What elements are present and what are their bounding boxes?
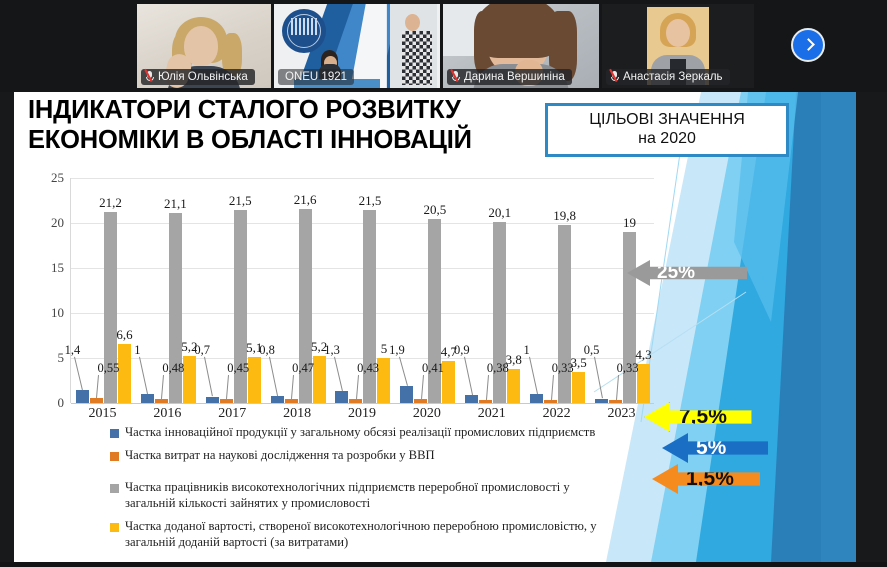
legend-color-swatch bbox=[110, 484, 119, 493]
x-axis-tick: 2018 bbox=[283, 406, 311, 422]
chart-value-label: 0,7 bbox=[194, 343, 210, 358]
chart-value-label: 20,1 bbox=[488, 205, 511, 221]
chart-bar bbox=[595, 399, 608, 404]
legend-label: Частка витрат на наукові дослідження та … bbox=[125, 448, 610, 464]
target-values-box: ЦІЛЬОВІ ЗНАЧЕННЯ на 2020 bbox=[545, 103, 789, 157]
chart-bar bbox=[349, 399, 362, 403]
chart-bar bbox=[206, 397, 219, 403]
x-axis-tick: 2020 bbox=[413, 406, 441, 422]
y-axis-tick: 15 bbox=[51, 260, 64, 276]
chart-value-label: 1,4 bbox=[65, 343, 81, 358]
slide-title: ІНДИКАТОРИ СТАЛОГО РОЗВИТКУ ЕКОНОМІКИ В … bbox=[28, 96, 548, 155]
x-axis-tick: 2016 bbox=[153, 406, 181, 422]
legend-label: Частка працівників високотехнологічних п… bbox=[125, 480, 610, 511]
legend-color-swatch bbox=[110, 523, 119, 532]
chart-gridline: 0 bbox=[71, 403, 654, 404]
chart-value-label: 0,48 bbox=[162, 361, 184, 376]
target-values-line2: на 2020 bbox=[638, 130, 696, 149]
chart-bar bbox=[558, 225, 571, 403]
chart-value-label: 0,9 bbox=[454, 343, 470, 358]
chart-bar bbox=[414, 399, 427, 403]
y-axis-tick: 20 bbox=[51, 215, 64, 231]
x-axis-tick: 2017 bbox=[218, 406, 246, 422]
chart-bar bbox=[609, 400, 622, 403]
chart-bar bbox=[155, 399, 168, 403]
participant-name-tag: Юлія Ольвінська bbox=[141, 69, 255, 85]
participant-name-tag: ONEU 1921 bbox=[278, 69, 354, 85]
chart-bar bbox=[479, 400, 492, 403]
chart-bar bbox=[623, 232, 636, 403]
window-bottom-edge bbox=[0, 562, 887, 567]
chart-bar bbox=[248, 357, 261, 403]
chart-value-label: 20,5 bbox=[424, 202, 447, 218]
chart-bar bbox=[637, 364, 650, 403]
chart-value-label: 21,5 bbox=[229, 193, 252, 209]
next-page-button[interactable] bbox=[791, 28, 825, 62]
participant-name: Дарина Вершиніна bbox=[464, 71, 565, 83]
microphone-muted-icon bbox=[610, 71, 619, 83]
chart-bar bbox=[183, 356, 196, 403]
shared-screen-slide[interactable]: ІНДИКАТОРИ СТАЛОГО РОЗВИТКУ ЕКОНОМІКИ В … bbox=[14, 92, 856, 562]
chart-bar bbox=[335, 391, 348, 403]
chart-value-label: 1,9 bbox=[389, 343, 405, 358]
chart-value-label: 0,38 bbox=[487, 361, 509, 376]
y-axis-tick: 5 bbox=[58, 350, 65, 366]
participant-name-tag: Дарина Вершиніна bbox=[447, 69, 572, 85]
chart-value-label: 0,47 bbox=[292, 361, 314, 376]
participant-tile-4[interactable]: Анастасія Зеркаль bbox=[602, 4, 754, 88]
legend-item[interactable]: Частка інноваційної продукції у загально… bbox=[110, 425, 610, 441]
chart-bar bbox=[90, 398, 103, 403]
chart-bar bbox=[76, 390, 89, 403]
legend-item[interactable]: Частка доданої вартості, створеної висок… bbox=[110, 519, 610, 550]
chart-bar bbox=[544, 400, 557, 403]
legend-color-swatch bbox=[110, 452, 119, 461]
chart-value-label: 1,3 bbox=[324, 343, 340, 358]
chart-bar bbox=[400, 386, 413, 403]
chart-value-label: 21,5 bbox=[359, 193, 382, 209]
zoom-meeting-window: Юлія ОльвінськаONEU 1921Дарина Вершиніна… bbox=[0, 0, 887, 567]
participant-tile-3[interactable]: Дарина Вершиніна bbox=[443, 4, 599, 88]
participant-name-tag: Анастасія Зеркаль bbox=[606, 69, 730, 85]
participant-tile-2[interactable]: ONEU 1921 bbox=[274, 4, 440, 88]
chart-bar bbox=[465, 395, 478, 403]
legend-item[interactable]: Частка працівників високотехнологічних п… bbox=[110, 480, 610, 511]
chart-value-label: 0,33 bbox=[552, 361, 574, 376]
chart-legend: Частка інноваційної продукції у загально… bbox=[110, 425, 610, 557]
chart-value-label: 1 bbox=[524, 343, 530, 358]
chart-value-label: 21,6 bbox=[294, 192, 317, 208]
chart-bar bbox=[285, 399, 298, 403]
chart-value-label: 5 bbox=[381, 341, 388, 357]
microphone-muted-icon bbox=[451, 71, 460, 83]
participant-name: Анастасія Зеркаль bbox=[623, 71, 723, 83]
chart-value-label: 21,2 bbox=[99, 195, 122, 211]
chevron-right-icon bbox=[802, 38, 815, 51]
chart-bar bbox=[141, 394, 154, 403]
legend-label: Частка інноваційної продукції у загально… bbox=[125, 425, 610, 441]
chart-bar bbox=[313, 356, 326, 403]
participant-name: ONEU 1921 bbox=[285, 71, 347, 83]
chart-bar bbox=[442, 361, 455, 403]
chart-value-label: 19,8 bbox=[553, 208, 576, 224]
y-axis-tick: 25 bbox=[51, 170, 64, 186]
chart-value-label: 19 bbox=[623, 215, 636, 231]
microphone-muted-icon bbox=[145, 71, 154, 83]
chart-value-label: 21,1 bbox=[164, 196, 187, 212]
participant-name: Юлія Ольвінська bbox=[158, 71, 248, 83]
chart-value-label: 0,33 bbox=[617, 361, 639, 376]
target-values-line1: ЦІЛЬОВІ ЗНАЧЕННЯ bbox=[589, 111, 745, 130]
legend-label: Частка доданої вартості, створеної висок… bbox=[125, 519, 610, 550]
chart-value-label: 0,8 bbox=[259, 343, 275, 358]
chart-bar bbox=[271, 396, 284, 403]
chart-bar bbox=[507, 369, 520, 403]
participant-tile-1[interactable]: Юлія Ольвінська bbox=[137, 4, 271, 88]
x-axis-tick: 2023 bbox=[608, 406, 636, 422]
x-axis-tick: 2021 bbox=[478, 406, 506, 422]
participant-filmstrip: Юлія ОльвінськаONEU 1921Дарина Вершиніна… bbox=[0, 0, 887, 92]
chart-value-label: 0,5 bbox=[584, 343, 600, 358]
chart-value-label: 0,55 bbox=[98, 361, 120, 376]
chart-bar bbox=[118, 344, 131, 403]
x-axis-tick: 2019 bbox=[348, 406, 376, 422]
chart-bar bbox=[377, 358, 390, 403]
chart-value-label: 0,45 bbox=[227, 361, 249, 376]
chart-bar bbox=[572, 372, 585, 404]
legend-item[interactable]: Частка витрат на наукові дослідження та … bbox=[110, 448, 610, 464]
x-axis-tick: 2015 bbox=[88, 406, 116, 422]
legend-color-swatch bbox=[110, 429, 119, 438]
chart-bar bbox=[220, 399, 233, 403]
chart-value-label: 0,43 bbox=[357, 361, 379, 376]
y-axis-tick: 10 bbox=[51, 305, 64, 321]
x-axis-tick: 2022 bbox=[543, 406, 571, 422]
chart-bar bbox=[530, 394, 543, 403]
chart-plot-area: 051015202521,26,61,40,5521,15,210,4821,5… bbox=[70, 178, 654, 403]
y-axis-tick: 0 bbox=[58, 395, 65, 411]
chart-value-label: 0,41 bbox=[422, 361, 444, 376]
chart-value-label: 6,6 bbox=[116, 327, 132, 343]
